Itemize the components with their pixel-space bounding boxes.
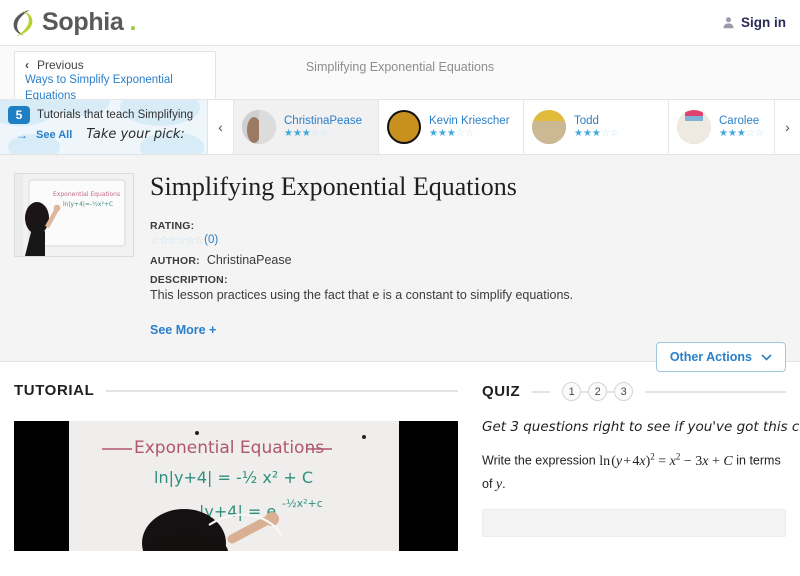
current-page-title: Simplifying Exponential Equations bbox=[0, 60, 800, 74]
carousel-items: ChristinaPease ★★★☆☆ Kevin Kriescher ★★★… bbox=[234, 100, 774, 154]
lesson-info-body: Simplifying Exponential Equations RATING… bbox=[150, 173, 786, 361]
carousel-item-christinapease[interactable]: ChristinaPease ★★★☆☆ bbox=[234, 100, 379, 154]
avatar-image bbox=[677, 110, 711, 144]
page-title: Simplifying Exponential Equations bbox=[150, 173, 786, 202]
avatar bbox=[242, 110, 276, 144]
sign-in-button[interactable]: Sign in bbox=[722, 15, 786, 30]
see-more-link[interactable]: See More + bbox=[150, 323, 216, 337]
other-actions-label: Other Actions bbox=[670, 350, 752, 364]
quiz-answer-option[interactable] bbox=[482, 509, 786, 537]
see-all-link[interactable]: See All bbox=[36, 129, 72, 141]
rating-count: (0) bbox=[204, 234, 218, 246]
sign-in-label: Sign in bbox=[741, 15, 786, 30]
quiz-question: Write the expression ln (y + 4x)2 = x2 −… bbox=[482, 449, 786, 496]
carousel-item-todd[interactable]: Todd ★★★☆☆ bbox=[524, 100, 669, 154]
avatar-image bbox=[242, 110, 276, 144]
sophia-dot: . bbox=[130, 8, 137, 37]
carousel-item-rating: ★★★☆☆ bbox=[574, 129, 619, 139]
top-navigation-bar: Sophia . Sign in bbox=[0, 0, 800, 45]
breadcrumb-bar: ‹ Previous Ways to Simplify Exponential … bbox=[0, 45, 800, 100]
take-your-pick-text: Take your pick: bbox=[86, 127, 184, 142]
svg-text:-½x²+c: -½x²+c bbox=[282, 497, 323, 510]
quiz-step-indicator: 1 2 3 bbox=[562, 382, 633, 401]
sophia-leaf-icon bbox=[10, 8, 36, 38]
quiz-section-header: QUIZ 1 2 3 bbox=[482, 382, 786, 401]
quiz-hook-text: Get 3 questions right to see if you've g… bbox=[482, 419, 786, 435]
quiz-step-3[interactable]: 3 bbox=[614, 382, 633, 401]
promo-title: Tutorials that teach Simplifying bbox=[37, 109, 193, 121]
tutorial-carousel: 5 Tutorials that teach Simplifying → See… bbox=[0, 100, 800, 155]
lower-content: TUTORIAL Exponential Equations ln|y+4| =… bbox=[0, 362, 800, 551]
tutorial-count-badge: 5 bbox=[8, 106, 30, 124]
avatar bbox=[532, 110, 566, 144]
chevron-down-icon bbox=[761, 354, 772, 361]
avatar-image bbox=[387, 110, 421, 144]
quiz-column: QUIZ 1 2 3 Get 3 questions right to see … bbox=[482, 382, 786, 551]
svg-text:ln|y+4|=-½x²+C: ln|y+4|=-½x²+C bbox=[63, 201, 113, 208]
lesson-thumbnail-image: Exponential Equations ln|y+4|=-½x²+C bbox=[15, 174, 133, 256]
carousel-item-rating: ★★★☆☆ bbox=[429, 129, 510, 139]
carousel-item-rating: ★★★☆☆ bbox=[284, 129, 362, 139]
lesson-info-section: Exponential Equations ln|y+4|=-½x²+C Sim… bbox=[0, 155, 800, 362]
carousel-item-name: Carolee bbox=[719, 115, 764, 127]
author-name[interactable]: ChristinaPease bbox=[207, 253, 292, 267]
svg-text:Exponential Equations: Exponential Equations bbox=[134, 438, 324, 458]
quiz-question-end: . bbox=[502, 477, 505, 491]
arrow-right-icon: → bbox=[16, 129, 28, 141]
avatar bbox=[677, 110, 711, 144]
sophia-logo[interactable]: Sophia . bbox=[10, 8, 137, 38]
rating-stars[interactable]: ☆☆☆☆☆☆ bbox=[150, 234, 203, 247]
carousel-item-kevin-kriescher[interactable]: Kevin Kriescher ★★★☆☆ bbox=[379, 100, 524, 154]
carousel-promo-panel: 5 Tutorials that teach Simplifying → See… bbox=[0, 100, 208, 154]
carousel-prev-button[interactable]: ‹ bbox=[208, 100, 234, 154]
author-row: AUTHOR: ChristinaPease bbox=[150, 253, 786, 267]
quiz-step-1[interactable]: 1 bbox=[562, 382, 581, 401]
avatar bbox=[387, 110, 421, 144]
section-divider bbox=[106, 390, 458, 392]
tutorial-video-frame: Exponential Equations ln|y+4| = -½ x² + … bbox=[14, 421, 458, 551]
quiz-question-prefix: Write the expression bbox=[482, 454, 599, 468]
tutorial-section-title: TUTORIAL bbox=[14, 382, 94, 399]
section-divider bbox=[645, 391, 786, 393]
carousel-item-carolee[interactable]: Carolee ★★★☆☆ bbox=[669, 100, 774, 154]
svg-text:Exponential Equations: Exponential Equations bbox=[53, 191, 120, 198]
carousel-item-name: Kevin Kriescher bbox=[429, 115, 510, 127]
carousel-next-button[interactable]: › bbox=[774, 100, 800, 154]
carousel-item-name: ChristinaPease bbox=[284, 115, 362, 127]
tutorial-section-header: TUTORIAL bbox=[14, 382, 458, 399]
carousel-item-name: Todd bbox=[574, 115, 619, 127]
rating-row[interactable]: ☆☆☆☆☆☆ (0) bbox=[150, 234, 786, 247]
quiz-section-title: QUIZ bbox=[482, 383, 520, 400]
quiz-question-math: ln (y + 4x)2 = x2 − 3x + C bbox=[599, 454, 733, 469]
author-label: AUTHOR: bbox=[150, 255, 200, 267]
lesson-thumbnail[interactable]: Exponential Equations ln|y+4|=-½x²+C bbox=[14, 173, 134, 257]
avatar-image bbox=[532, 110, 566, 144]
person-icon bbox=[722, 16, 735, 29]
other-actions-button[interactable]: Other Actions bbox=[656, 342, 786, 372]
quiz-step-2[interactable]: 2 bbox=[588, 382, 607, 401]
tutorial-video-player[interactable]: Exponential Equations ln|y+4| = -½ x² + … bbox=[14, 421, 458, 551]
carousel-item-rating: ★★★☆☆ bbox=[719, 129, 764, 139]
previous-lesson-card[interactable]: ‹ Previous Ways to Simplify Exponential … bbox=[14, 51, 216, 99]
tutorial-column: TUTORIAL Exponential Equations ln|y+4| =… bbox=[14, 382, 458, 551]
rating-label: RATING: bbox=[150, 220, 786, 232]
description-label: DESCRIPTION: bbox=[150, 274, 786, 286]
description-text: This lesson practices using the fact tha… bbox=[150, 288, 786, 302]
svg-text:ln|y+4| = -½ x² + C: ln|y+4| = -½ x² + C bbox=[154, 468, 313, 487]
sophia-wordmark: Sophia bbox=[42, 8, 124, 37]
